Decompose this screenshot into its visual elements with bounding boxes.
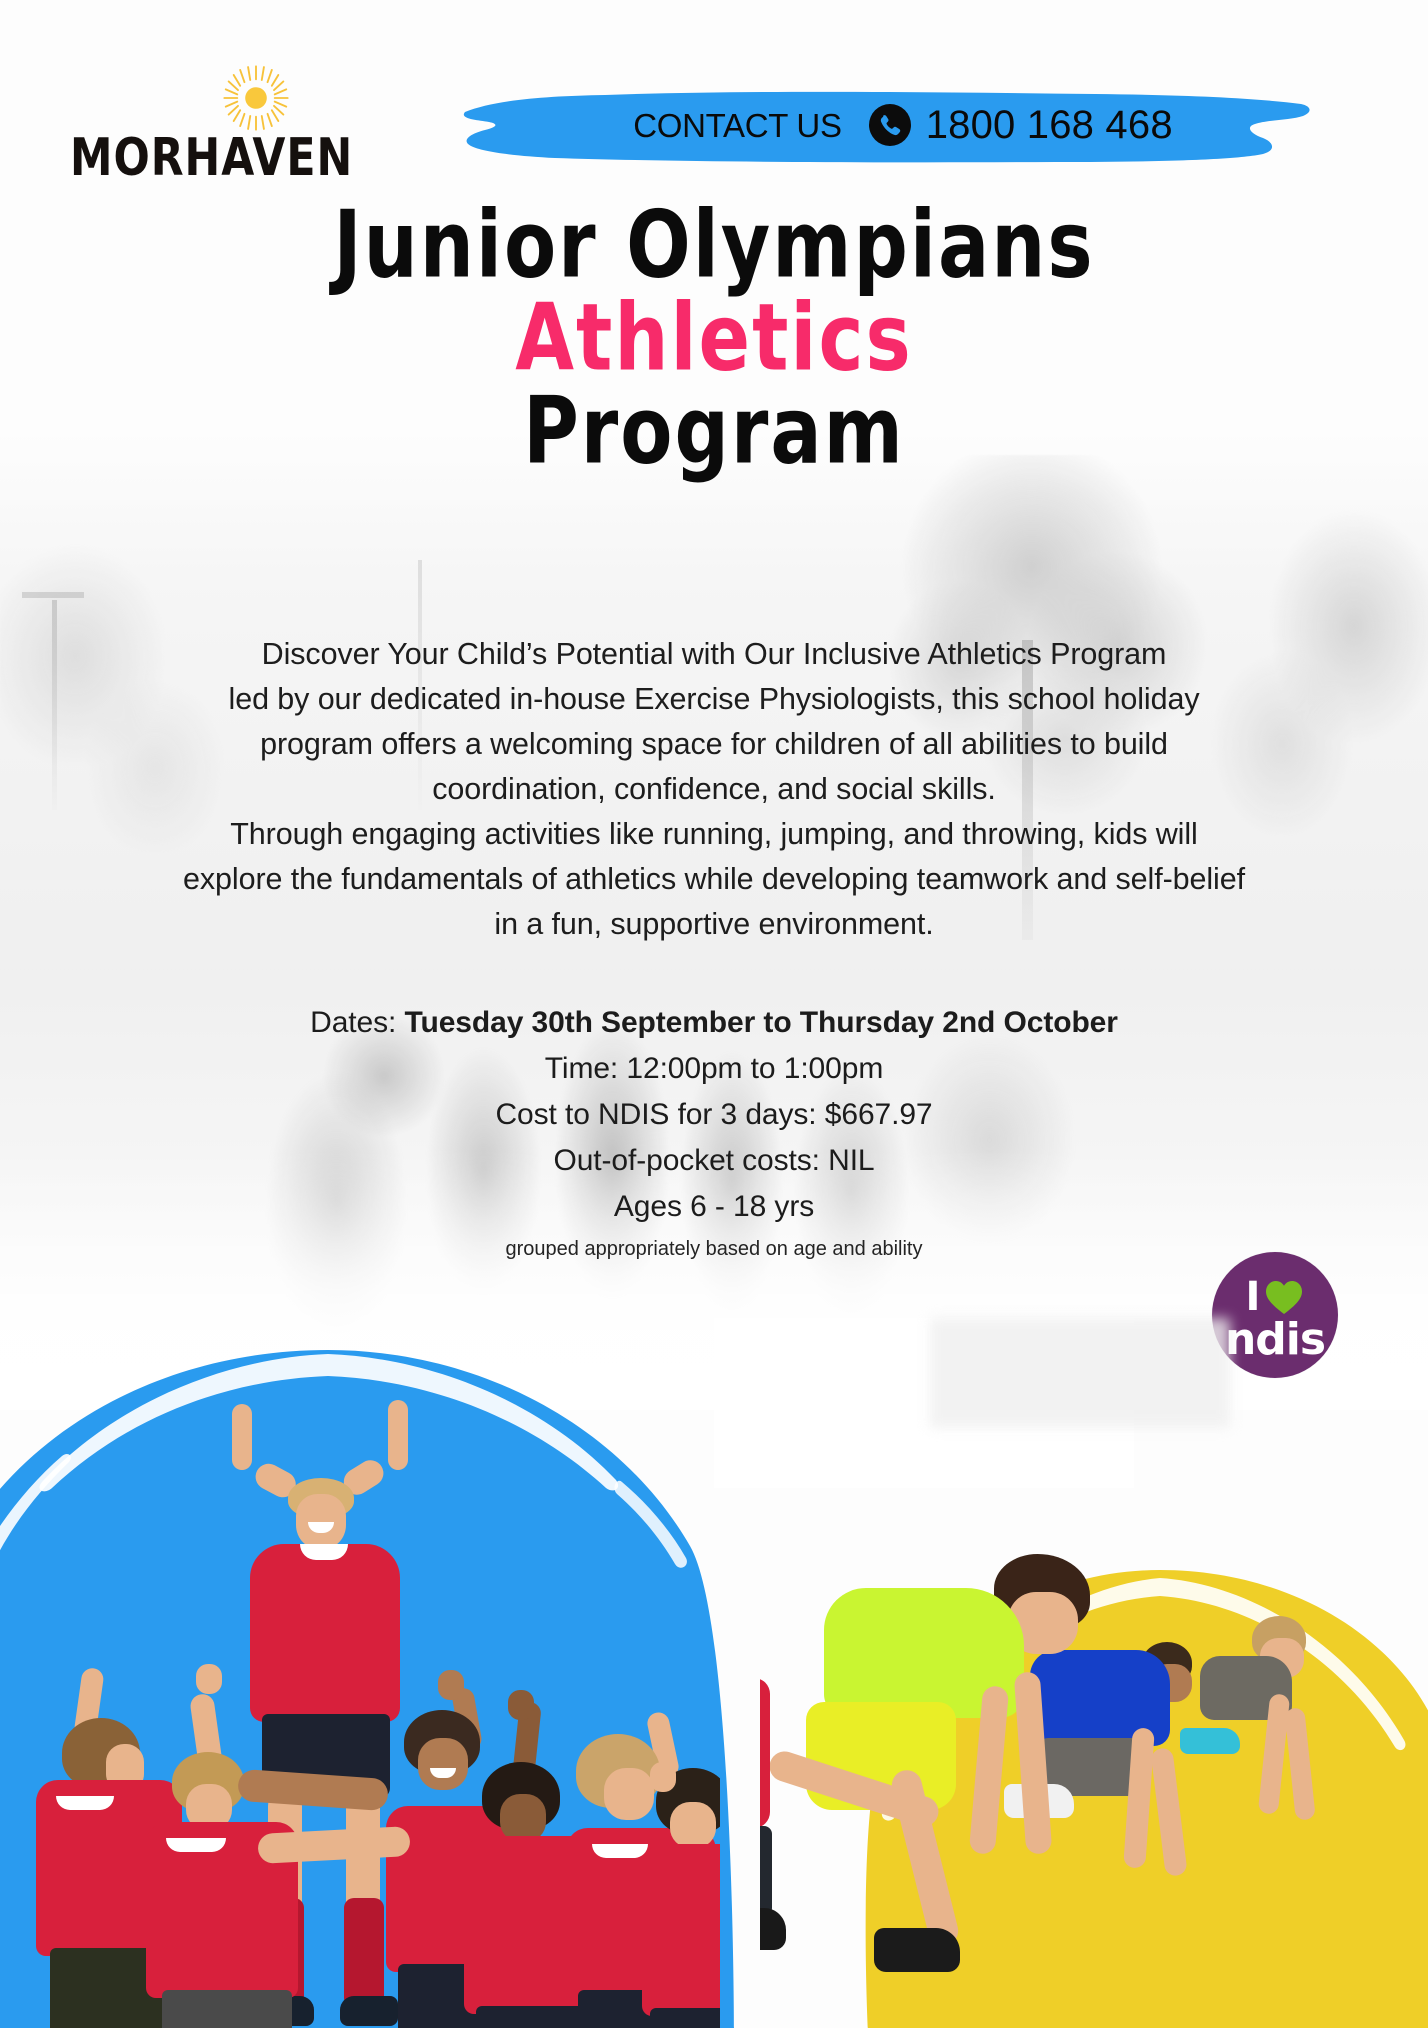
children-sprint-start-photo [760, 1478, 1428, 2028]
intro-line-3: program offers a welcoming space for chi… [70, 722, 1358, 767]
brand-logo: MORHAVEN [70, 60, 370, 190]
brand-wordmark: MORHAVEN [70, 128, 361, 188]
runner-3-shoe [1180, 1728, 1240, 1754]
heart-icon [1264, 1278, 1304, 1316]
overlap-shoe [760, 1908, 786, 1950]
title-line-1: Junior Olympians [0, 196, 1428, 292]
intro-line-7: in a fun, supportive environment. [70, 902, 1358, 947]
raised-fist-4 [650, 1762, 676, 1792]
children-celebrating-photo [0, 1378, 720, 2028]
detail-ages: Ages 6 - 18 yrs [70, 1184, 1358, 1230]
girl-jersey [250, 1544, 400, 1722]
intro-paragraphs: Discover Your Child’s Potential with Our… [70, 632, 1358, 947]
detail-grouping-note: grouped appropriately based on age and a… [70, 1232, 1358, 1266]
intro-line-4: coordination, confidence, and social ski… [70, 767, 1358, 812]
title-line-2-accent: Athletics [0, 289, 1428, 385]
photo-grey-haze [930, 1318, 1230, 1428]
sun-icon [220, 62, 292, 134]
girl-sock-right [344, 1898, 384, 2008]
phone-icon [868, 103, 912, 147]
phone-number[interactable]: 1800 168 468 [926, 103, 1173, 148]
poster-canvas: MORHAVEN CONTACT US 1800 168 468 Junior … [0, 0, 1428, 2028]
overlap-dark-shorts [760, 1826, 772, 1916]
detail-dates: Dates: Tuesday 30th September to Thursda… [70, 1000, 1358, 1046]
ndis-i-letter: I [1246, 1277, 1261, 1317]
detail-dates-value: Tuesday 30th September to Thursday 2nd O… [405, 1006, 1118, 1039]
program-details: Dates: Tuesday 30th September to Thursda… [70, 1000, 1358, 1266]
intro-line-2: led by our dedicated in-house Exercise P… [70, 677, 1358, 722]
poster-title: Junior Olympians Athletics Program [0, 196, 1428, 461]
detail-time: Time: 12:00pm to 1:00pm [70, 1046, 1358, 1092]
detail-dates-label: Dates: [310, 1006, 404, 1039]
background-watermark-lightpole [52, 600, 57, 810]
raised-fist-2 [438, 1670, 464, 1700]
detail-cost-ndis: Cost to NDIS for 3 days: $667.97 [70, 1092, 1358, 1138]
bottom-artwork [0, 1318, 1428, 2028]
raised-arm-right [388, 1400, 408, 1470]
background-watermark-lightpole-arm [22, 592, 84, 598]
intro-line-5: Through engaging activities like running… [70, 812, 1358, 857]
runner-1-shoe [874, 1928, 960, 1972]
raised-fist-1 [196, 1664, 222, 1694]
raised-fist-3 [508, 1690, 534, 1720]
contact-banner[interactable]: CONTACT US 1800 168 468 [455, 86, 1315, 164]
intro-line-1: Discover Your Child’s Potential with Our… [70, 632, 1358, 677]
raised-arm-left [232, 1404, 252, 1470]
overlap-red-jersey [760, 1678, 770, 1828]
title-line-3: Program [0, 382, 1428, 478]
girl-shoe-right [340, 1996, 398, 2026]
phone-link[interactable]: 1800 168 468 [868, 103, 1173, 148]
girl-head [286, 1478, 356, 1552]
intro-line-6: explore the fundamentals of athletics wh… [70, 857, 1358, 902]
detail-out-of-pocket: Out-of-pocket costs: NIL [70, 1138, 1358, 1184]
contact-us-label: CONTACT US [633, 107, 841, 145]
